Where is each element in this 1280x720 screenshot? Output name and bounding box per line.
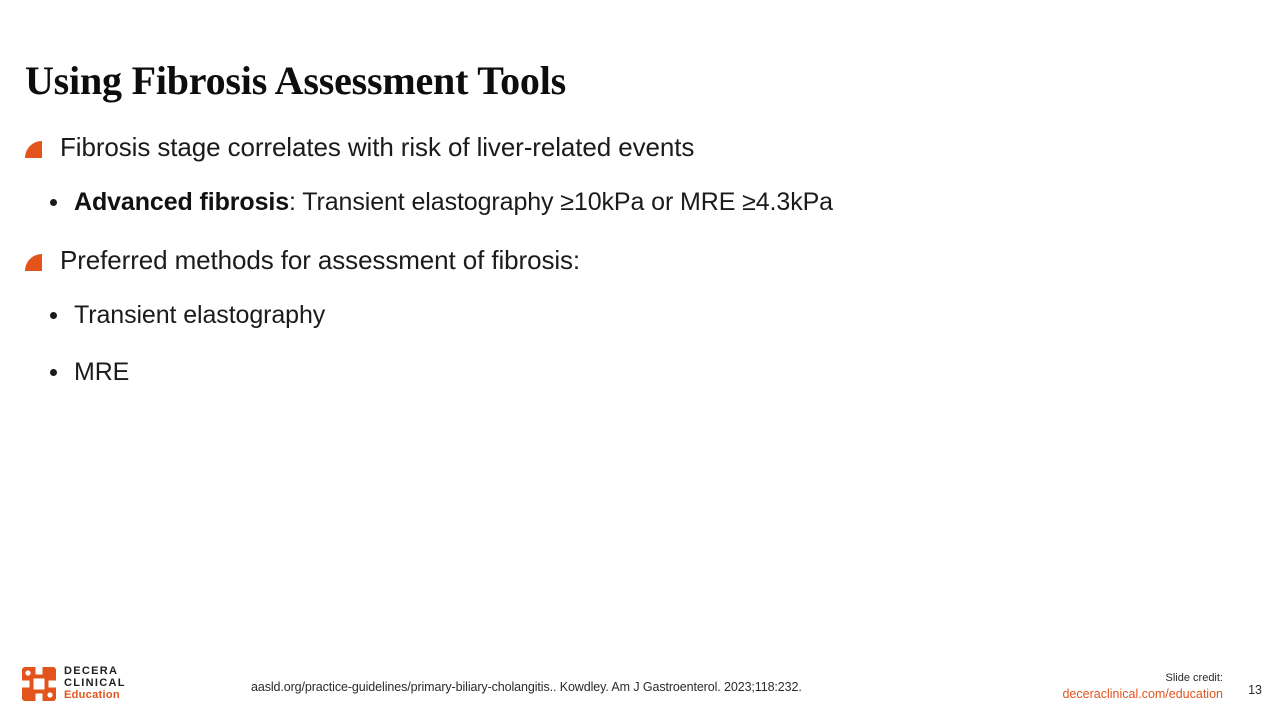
logo-line-decera: DECERA	[64, 665, 126, 677]
sub-bullet-text: MRE	[74, 358, 129, 386]
round-bullet-icon	[50, 369, 57, 376]
slide-credit-label: Slide credit:	[1062, 671, 1223, 685]
bullet-item-level1: Fibrosis stage correlates with risk of l…	[22, 130, 1232, 164]
sub-bullet-strong-text: Advanced fibrosis	[74, 188, 289, 216]
decera-logo-mark-icon	[22, 667, 56, 701]
sub-bullet-text: Transient elastography	[74, 301, 325, 329]
logo-line-education: Education	[64, 689, 126, 702]
bullet-item-level1-preferred-methods: Preferred methods for assessment of fibr…	[22, 243, 1232, 277]
slide-credit-block: Slide credit: deceraclinical.com/educati…	[1062, 671, 1223, 701]
sub-bullet-item-transient-elastography: Transient elastography	[22, 299, 1232, 332]
logo-line-clinical: CLINICAL	[64, 677, 126, 689]
decera-logo: DECERA CLINICAL Education	[22, 665, 126, 702]
bullet-text: Fibrosis stage correlates with risk of l…	[60, 132, 694, 162]
round-bullet-icon	[50, 312, 57, 319]
footer-citation: aasld.org/practice-guidelines/primary-bi…	[251, 679, 802, 695]
sub-bullet-text: : Transient elastography ≥10kPa or MRE ≥…	[289, 188, 833, 216]
slide-body: Fibrosis stage correlates with risk of l…	[22, 130, 1232, 403]
round-bullet-icon	[50, 199, 57, 206]
page-title: Using Fibrosis Assessment Tools	[25, 57, 566, 105]
slide-canvas: Using Fibrosis Assessment Tools Fibrosis…	[0, 0, 1280, 720]
page-number: 13	[1248, 683, 1262, 697]
orange-quarter-disc-icon	[25, 141, 42, 158]
sub-bullet-item-advanced-fibrosis: Advanced fibrosis: Transient elastograph…	[22, 186, 1232, 219]
bullet-text: Preferred methods for assessment of fibr…	[60, 245, 580, 275]
orange-quarter-disc-icon	[25, 254, 42, 271]
sub-bullet-item-mre: MRE	[22, 356, 1232, 389]
decera-logo-text: DECERA CLINICAL Education	[64, 665, 126, 702]
slide-credit-link[interactable]: deceraclinical.com/education	[1062, 687, 1223, 701]
